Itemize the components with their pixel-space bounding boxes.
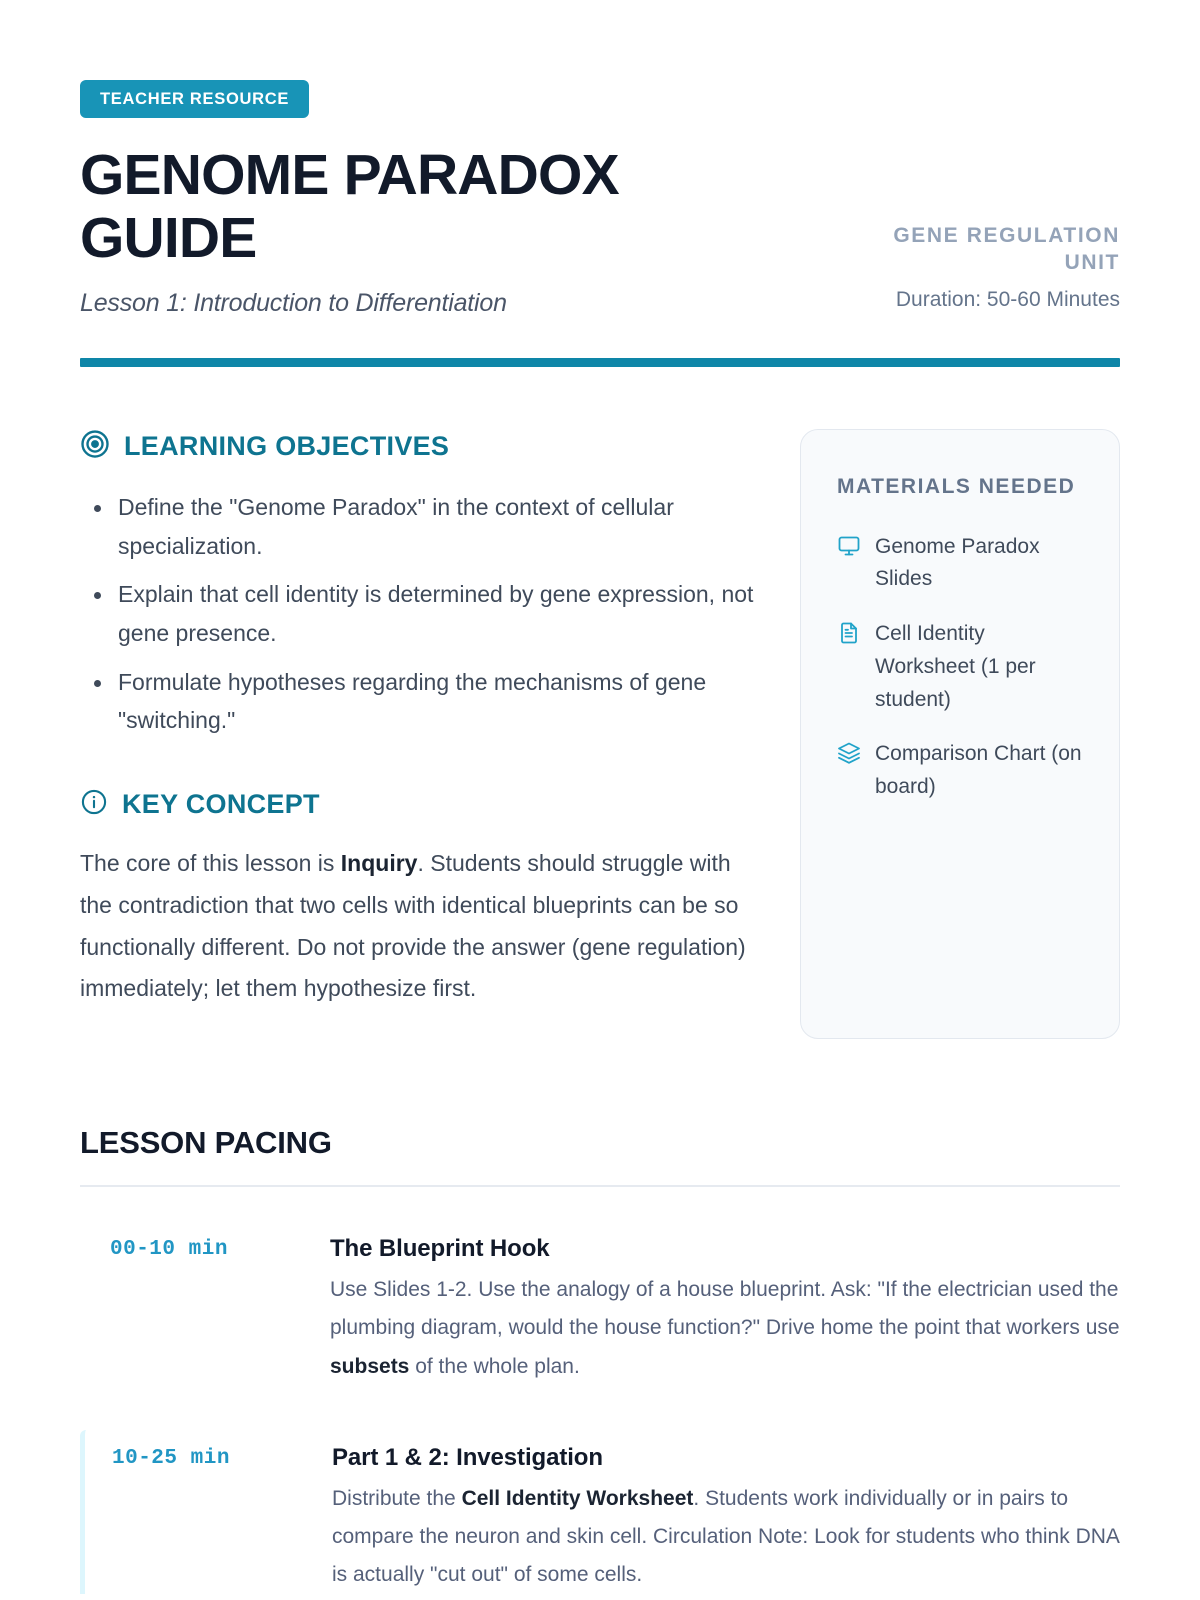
material-label: Cell Identity Worksheet (1 per student)	[875, 618, 1089, 716]
unit-label: GENE REGULATION UNIT	[860, 222, 1120, 277]
teacher-resource-badge: TEACHER RESOURCE	[80, 80, 309, 118]
file-text-icon	[837, 621, 861, 650]
materials-heading: MATERIALS NEEDED	[837, 472, 1089, 502]
pacing-row: 00-10 min The Blueprint Hook Use Slides …	[80, 1235, 1120, 1386]
objectives-list: Define the "Genome Paradox" in the conte…	[80, 488, 764, 740]
pacing-desc-part-2: of the whole plan.	[409, 1355, 579, 1378]
pacing-desc-part-1: Use Slides 1-2. Use the analogy of a hou…	[330, 1278, 1120, 1339]
list-item: Genome Paradox Slides	[837, 531, 1089, 597]
list-item: Explain that cell identity is determined…	[80, 575, 764, 652]
pacing-activity-description: Distribute the Cell Identity Worksheet. …	[332, 1480, 1120, 1595]
header-right-group: GENE REGULATION UNIT Duration: 50-60 Min…	[860, 222, 1120, 319]
key-concept-header: KEY CONCEPT	[80, 788, 764, 821]
material-label: Genome Paradox Slides	[875, 531, 1089, 597]
key-concept-heading: KEY CONCEPT	[122, 789, 320, 820]
pacing-time: 00-10 min	[110, 1235, 330, 1386]
pacing-divider	[80, 1185, 1120, 1187]
key-concept-text-before: The core of this lesson is	[80, 850, 341, 876]
right-column: MATERIALS NEEDED Genome Paradox Slides	[800, 429, 1120, 1039]
header-accent-rule	[80, 358, 1120, 367]
duration-label: Duration: 50-60 Minutes	[860, 288, 1120, 312]
lesson-pacing-heading: LESSON PACING	[80, 1125, 1120, 1161]
pacing-activity-description: Use Slides 1-2. Use the analogy of a hou…	[330, 1271, 1120, 1386]
list-item: Comparison Chart (on board)	[837, 738, 1089, 804]
pacing-content: The Blueprint Hook Use Slides 1-2. Use t…	[330, 1235, 1120, 1386]
pacing-time: 10-25 min	[112, 1444, 332, 1595]
list-item: Cell Identity Worksheet (1 per student)	[837, 618, 1089, 716]
material-label: Comparison Chart (on board)	[875, 738, 1089, 804]
learning-objectives-header: LEARNING OBJECTIVES	[80, 429, 764, 464]
list-item: Define the "Genome Paradox" in the conte…	[80, 488, 764, 565]
monitor-icon	[837, 534, 861, 563]
pacing-content: Part 1 & 2: Investigation Distribute the…	[332, 1444, 1120, 1595]
key-concept-body: The core of this lesson is Inquiry. Stud…	[80, 843, 764, 1010]
info-circle-icon	[80, 788, 108, 821]
target-icon	[80, 429, 110, 464]
pacing-activity-name: Part 1 & 2: Investigation	[332, 1444, 1120, 1472]
page-title: GENOME PARADOX GUIDE	[80, 144, 680, 272]
header-left-group: TEACHER RESOURCE GENOME PARADOX GUIDE Le…	[80, 80, 680, 318]
pacing-desc-emphasis: Cell Identity Worksheet	[462, 1487, 694, 1510]
key-concept-section: KEY CONCEPT The core of this lesson is I…	[80, 788, 764, 1010]
pacing-row: 10-25 min Part 1 & 2: Investigation Dist…	[80, 1430, 1120, 1595]
learning-objectives-section: LEARNING OBJECTIVES Define the "Genome P…	[80, 429, 764, 740]
page-subtitle: Lesson 1: Introduction to Differentiatio…	[80, 289, 680, 318]
layers-icon	[837, 741, 861, 770]
left-column: LEARNING OBJECTIVES Define the "Genome P…	[80, 429, 764, 1039]
lesson-plan-document: TEACHER RESOURCE GENOME PARADOX GUIDE Le…	[0, 0, 1200, 1600]
key-concept-emphasis: Inquiry	[341, 850, 418, 876]
pacing-activity-name: The Blueprint Hook	[330, 1235, 1120, 1263]
main-content: LEARNING OBJECTIVES Define the "Genome P…	[80, 429, 1120, 1039]
learning-objectives-heading: LEARNING OBJECTIVES	[124, 431, 449, 462]
materials-card: MATERIALS NEEDED Genome Paradox Slides	[800, 429, 1120, 1039]
list-item: Formulate hypotheses regarding the mecha…	[80, 663, 764, 740]
pacing-desc-part-1: Distribute the	[332, 1487, 462, 1510]
document-header: TEACHER RESOURCE GENOME PARADOX GUIDE Le…	[80, 80, 1120, 318]
pacing-desc-emphasis: subsets	[330, 1355, 409, 1378]
lesson-pacing-section: LESSON PACING 00-10 min The Blueprint Ho…	[80, 1125, 1120, 1594]
